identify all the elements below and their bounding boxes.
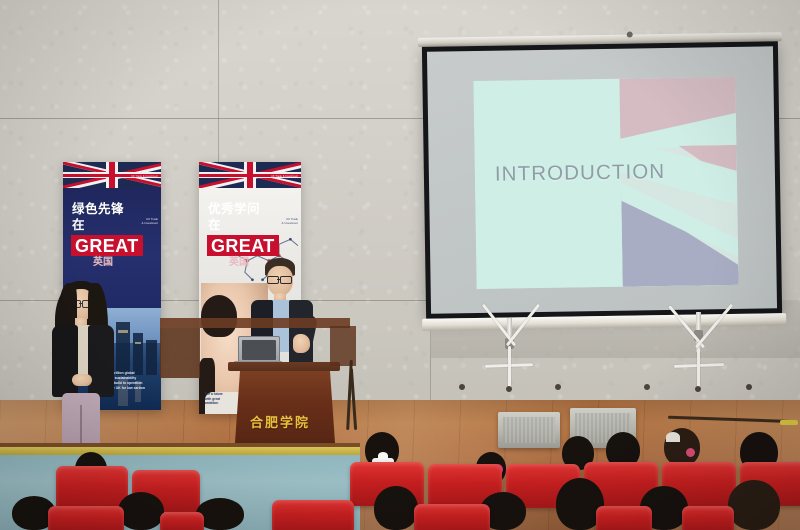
- laptop: [238, 336, 280, 364]
- seat: [160, 512, 204, 530]
- screen-tripod-left: [455, 318, 565, 398]
- seat: [682, 506, 734, 530]
- banner-line-2: 在: [72, 219, 85, 232]
- banner-line-1: 绿色先锋: [72, 203, 124, 216]
- glasses-icon: [280, 276, 292, 284]
- banner-line-4: 英国: [229, 258, 249, 268]
- screen-frame: INTRODUCTION: [422, 41, 782, 319]
- hair-accessory: [686, 448, 695, 457]
- slide-title: INTRODUCTION: [495, 160, 666, 187]
- banner-header-small-text: UK Trade & Investment: [131, 175, 158, 178]
- stage-table-leg: [160, 328, 200, 378]
- banner-header-small-text: UK Trade & Investment: [271, 175, 298, 178]
- screen-knob: [627, 31, 633, 37]
- seat: [272, 500, 354, 530]
- slide-union-jack: INTRODUCTION: [473, 77, 738, 289]
- banner-logo-text: UK Trade& Investment: [142, 218, 158, 225]
- audience-head: [118, 492, 164, 530]
- union-jack-header: UK Trade & Investment: [199, 162, 301, 188]
- seat: [56, 466, 128, 510]
- seat: [48, 506, 124, 530]
- wall-grout-line: [218, 0, 219, 118]
- audience-head: [374, 486, 418, 530]
- podium-sign: 合肥学院: [250, 412, 310, 431]
- stage-speaker-left: [498, 412, 560, 448]
- female-host: [44, 281, 120, 451]
- hair-accessory: [666, 432, 680, 442]
- glasses-icon: [267, 276, 279, 284]
- podium-top: [228, 362, 340, 371]
- banner-line-4: 英国: [93, 258, 113, 268]
- banner-line-1: 优秀学问: [208, 203, 260, 216]
- banner-line-2: 在: [208, 219, 221, 232]
- seat: [596, 506, 652, 530]
- union-jack-header: UK Trade & Investment: [63, 162, 161, 188]
- stage-table: [160, 318, 350, 328]
- projection-screen: INTRODUCTION: [422, 41, 782, 319]
- screen-surface: INTRODUCTION: [427, 46, 777, 313]
- water-cup-lid: [378, 452, 388, 459]
- cable-tape: [780, 420, 798, 425]
- presentation-photo: INTRODUCTION: [0, 0, 800, 530]
- seat: [414, 504, 490, 530]
- audience-head: [728, 480, 780, 530]
- banner-great-badge: GREAT: [71, 235, 143, 256]
- banner-great-badge: GREAT: [207, 235, 279, 256]
- screen-tripod-right: [640, 312, 755, 398]
